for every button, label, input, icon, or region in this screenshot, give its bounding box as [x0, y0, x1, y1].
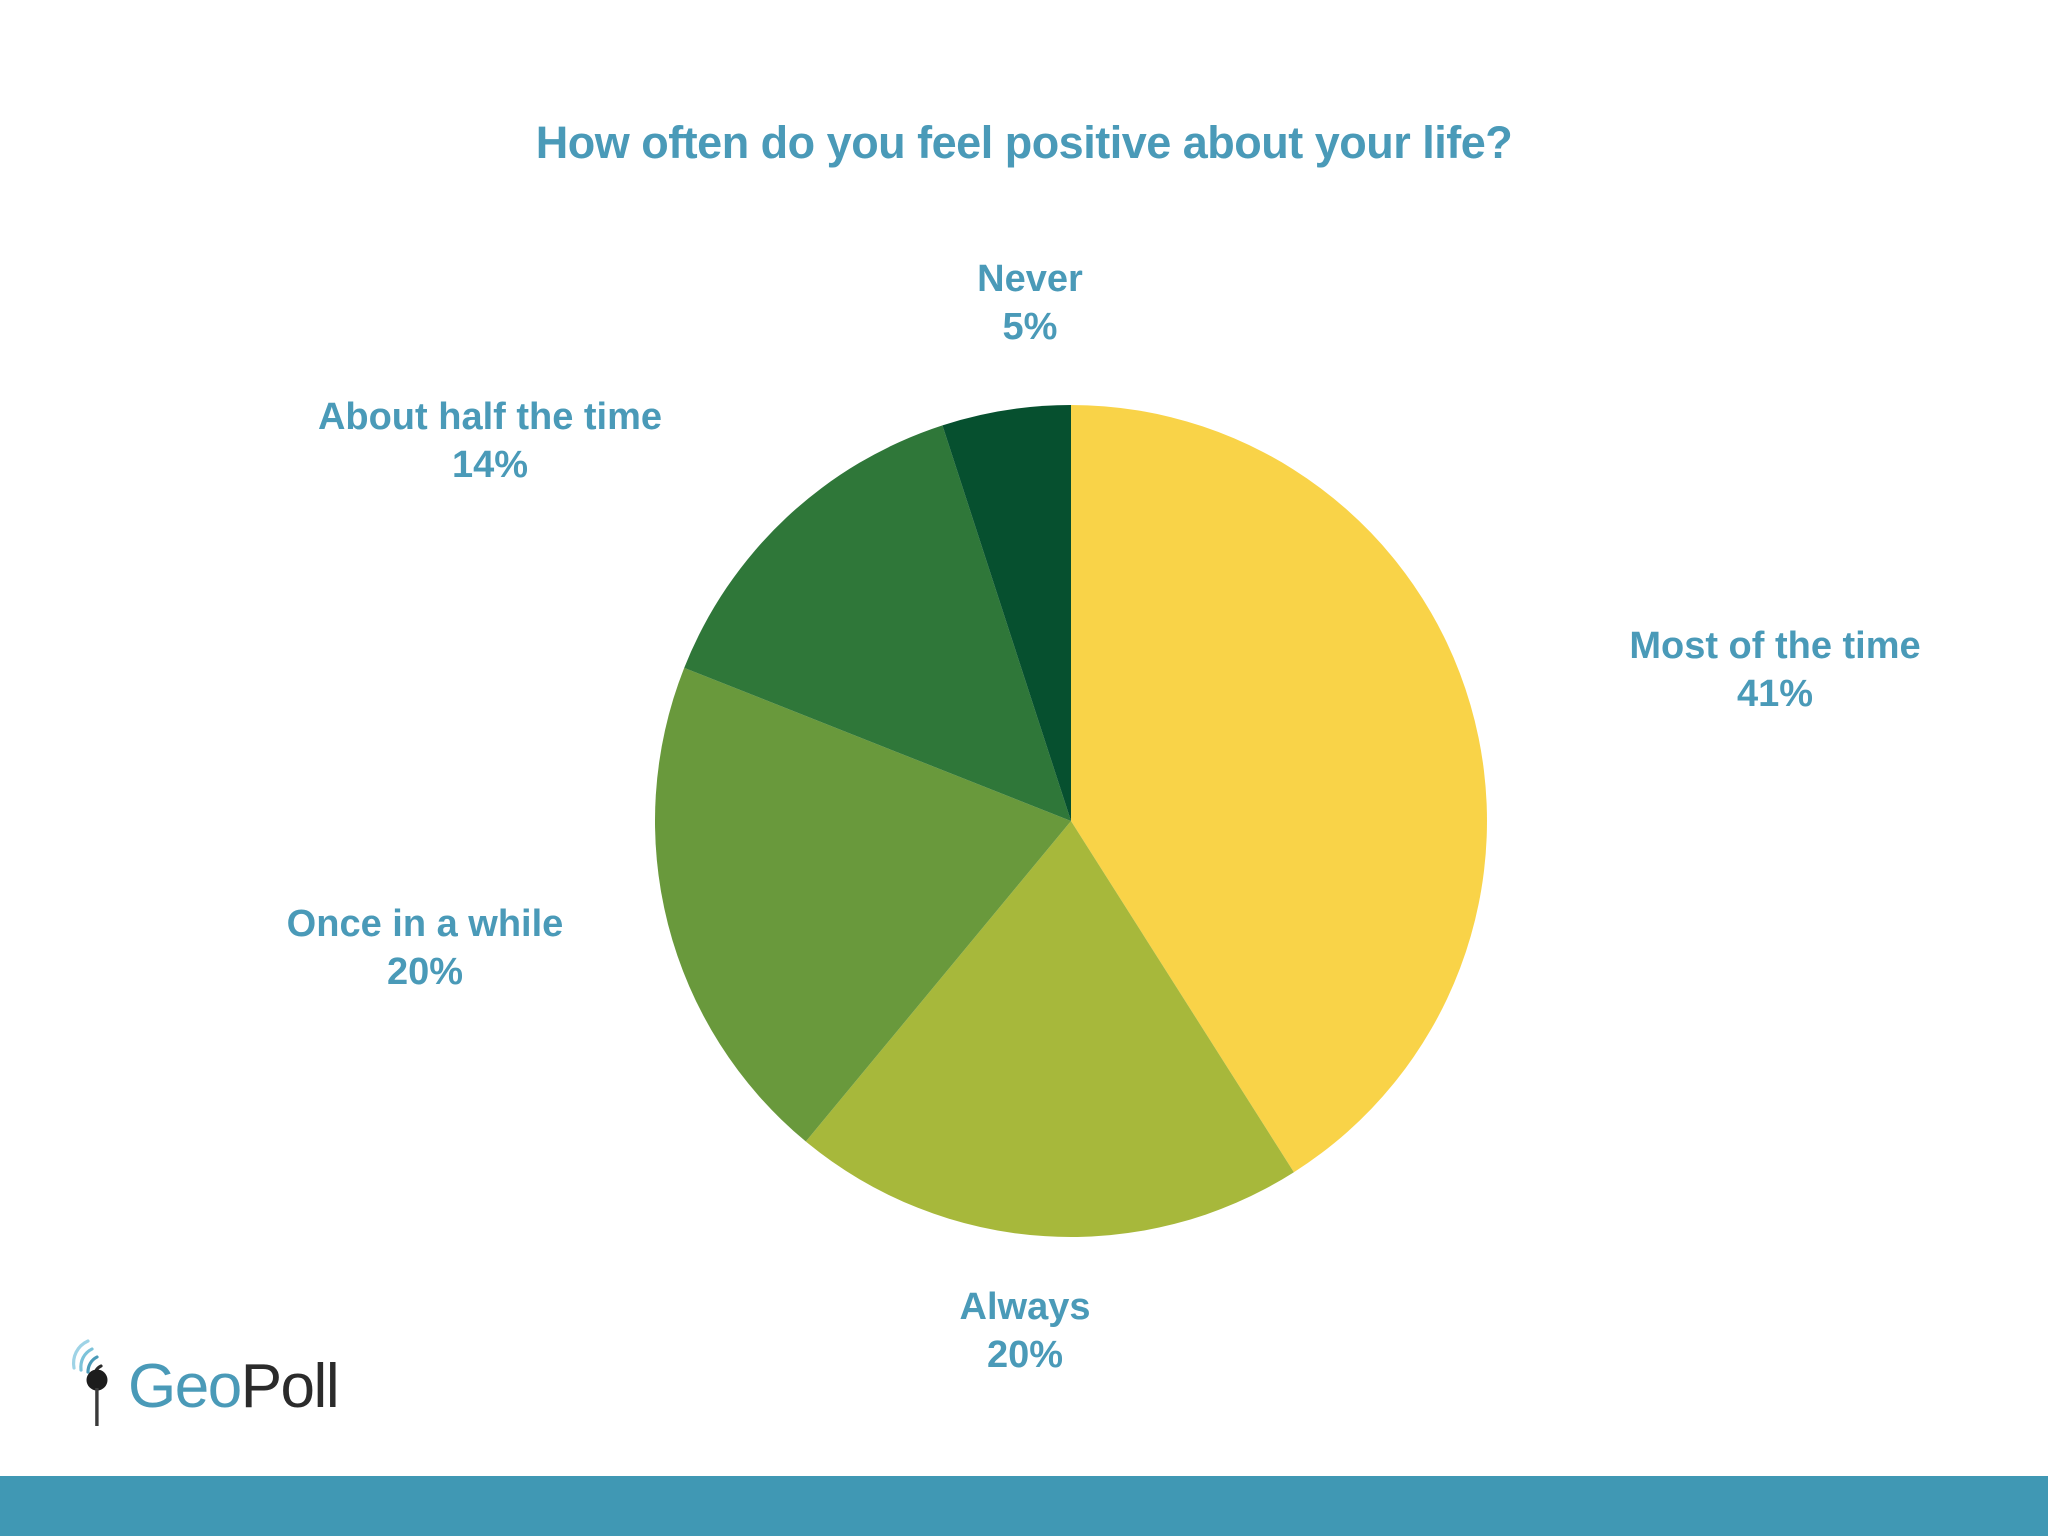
slice-label-never-name: Never [920, 255, 1140, 303]
logo-text-poll: Poll [241, 1352, 338, 1421]
slice-label-once-in-a-while-value: 20% [155, 948, 695, 996]
slide-canvas: How often do you feel positive about you… [0, 0, 2048, 1536]
slice-label-most-of-the-time-value: 41% [1560, 670, 1990, 718]
slice-label-always-value: 20% [875, 1331, 1175, 1379]
slice-label-most-of-the-time-name: Most of the time [1560, 622, 1990, 670]
pie-chart-svg [655, 405, 1487, 1237]
slice-label-about-half-the-time-name: About half the time [210, 393, 770, 441]
slice-label-never-value: 5% [920, 303, 1140, 351]
pie-chart [655, 405, 1487, 1237]
slice-label-once-in-a-while-name: Once in a while [155, 900, 695, 948]
slice-label-about-half-the-time: About half the time 14% [210, 393, 770, 490]
chart-title: How often do you feel positive about you… [0, 117, 2048, 169]
slice-label-always: Always 20% [875, 1283, 1175, 1380]
signal-antenna-icon [68, 1338, 126, 1428]
geopoll-wordmark: GeoPoll [128, 1356, 338, 1418]
slice-label-never: Never 5% [920, 255, 1140, 352]
logo-text-geo: Geo [128, 1352, 241, 1421]
slice-label-most-of-the-time: Most of the time 41% [1560, 622, 1990, 719]
pie-slice-group [655, 405, 1487, 1237]
slice-label-about-half-the-time-value: 14% [210, 441, 770, 489]
slice-label-always-name: Always [875, 1283, 1175, 1331]
footer-accent-bar [0, 1476, 2048, 1536]
geopoll-logo: GeoPoll [68, 1338, 338, 1428]
slice-label-once-in-a-while: Once in a while 20% [155, 900, 695, 997]
